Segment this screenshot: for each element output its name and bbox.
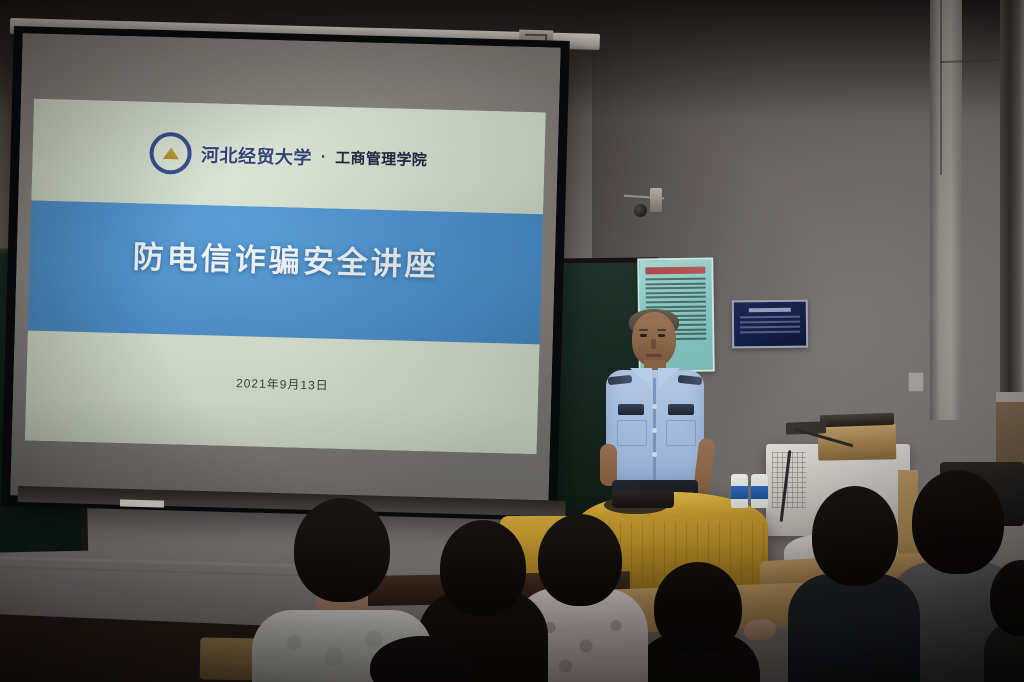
- console-monitor: [820, 413, 894, 428]
- list-item: [350, 636, 500, 682]
- wall-pilaster: [930, 0, 962, 420]
- student-head: [440, 520, 526, 616]
- list-item: [636, 562, 760, 682]
- officer-badge-right: [668, 404, 694, 415]
- officer-button-2: [652, 428, 657, 433]
- student-black-top: [788, 574, 920, 682]
- blue-info-plaque: [732, 300, 808, 349]
- camera-lens-icon: [634, 204, 647, 217]
- surveillance-camera-icon: [650, 188, 662, 212]
- wall-outlet: [908, 372, 924, 392]
- water-bottle-1: [731, 474, 748, 508]
- officer-brow-right: [657, 329, 666, 331]
- student-head: [654, 562, 742, 654]
- university-crest-icon: [149, 132, 192, 175]
- plaque-body-text: [740, 316, 800, 334]
- list-item: [788, 486, 920, 682]
- college-name: 工商管理学院: [335, 147, 427, 170]
- officer-button-3: [652, 452, 657, 457]
- officer-eye-left: [640, 334, 647, 337]
- water-bottle-2: [751, 474, 768, 508]
- window-sill: [996, 392, 1024, 402]
- presentation-slide: 河北经贸大学 · 工商管理学院 防电信诈骗安全讲座 2021年9月13日: [25, 98, 545, 454]
- separator-dot: ·: [321, 149, 327, 166]
- pilaster-edge-line: [940, 0, 942, 175]
- projection-screen: 河北经贸大学 · 工商管理学院 防电信诈骗安全讲座 2021年9月13日: [1, 26, 570, 521]
- student-head: [294, 498, 390, 602]
- slide-header: 河北经贸大学 · 工商管理学院: [32, 112, 545, 201]
- console-wood-top: [818, 423, 897, 460]
- classroom-photo: 河北经贸大学 · 工商管理学院 防电信诈骗安全讲座 2021年9月13日: [0, 0, 1024, 682]
- officer-pocket-left: [617, 420, 647, 446]
- dark-handheld-object: [612, 490, 674, 508]
- student-head: [812, 486, 898, 586]
- officer-button-1: [652, 404, 657, 409]
- window-frame: [1000, 0, 1024, 400]
- student-head: [912, 470, 1004, 574]
- officer-badge-left: [618, 404, 644, 415]
- student-head: [538, 514, 622, 606]
- officer-brow-left: [639, 329, 648, 331]
- officer-pocket-right: [666, 420, 696, 446]
- screen-weight-strip: [120, 499, 164, 507]
- plaque-title-bar: [749, 308, 791, 312]
- poster-title-bar: [645, 267, 705, 275]
- list-item: [990, 560, 1024, 682]
- officer-eye-right: [658, 334, 665, 337]
- officer-nose: [651, 339, 656, 349]
- student-head: [990, 560, 1024, 636]
- student-foreground-bottom: [370, 636, 474, 682]
- projection-surface: 河北经贸大学 · 工商管理学院 防电信诈骗安全讲座 2021年9月13日: [10, 33, 560, 509]
- officer-mouth: [646, 354, 662, 357]
- university-name: 河北经贸大学: [201, 141, 313, 170]
